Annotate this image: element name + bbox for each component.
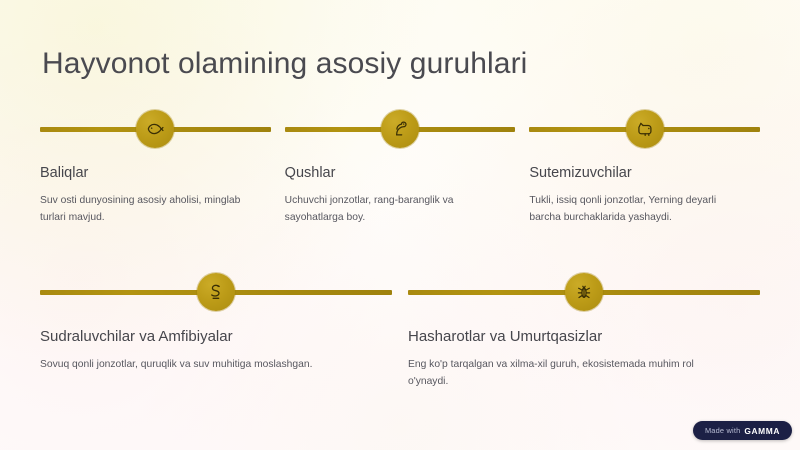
connector-bar-wrap — [40, 273, 392, 313]
badge-prefix-label: Made with — [705, 426, 740, 435]
card-description: Suv osti dunyosining asosiy aholisi, min… — [40, 193, 250, 227]
card-description: Eng ko'p tarqalgan va xilma-xil guruh, e… — [408, 357, 728, 391]
bird-icon — [381, 110, 419, 148]
card-description: Uchuvchi jonzotlar, rang-baranglik va sa… — [285, 193, 495, 227]
badge-brand-label: GAMMA — [744, 426, 780, 436]
card-title: Sudraluvchilar va Amfibiyalar — [40, 328, 392, 346]
card-title: Baliqlar — [40, 165, 271, 182]
made-with-gamma-badge[interactable]: Made with GAMMA — [693, 421, 792, 440]
page-title: Hayvonot olamining asosiy guruhlari — [42, 47, 527, 81]
connector-bar-wrap — [40, 110, 271, 150]
card-row-1: Baliqlar Suv osti dunyosining asosiy aho… — [40, 110, 760, 227]
card-hasharotlar-va-umurtqasizlar[interactable]: Hasharotlar va Umurtqasizlar Eng ko'p ta… — [408, 273, 760, 391]
card-title: Qushlar — [285, 165, 516, 182]
card-row-2: Sudraluvchilar va Amfibiyalar Sovuq qonl… — [40, 273, 760, 391]
card-title: Hasharotlar va Umurtqasizlar — [408, 328, 760, 346]
slide-canvas: Hayvonot olamining asosiy guruhlari Bali… — [0, 0, 800, 450]
card-title: Sutemizuvchilar — [529, 165, 760, 182]
insect-icon — [565, 273, 603, 311]
card-description: Sovuq qonli jonzotlar, quruqlik va suv m… — [40, 357, 360, 374]
connector-bar-wrap — [285, 110, 516, 150]
mammal-icon — [626, 110, 664, 148]
fish-icon — [136, 110, 174, 148]
card-sudraluvchilar-va-amfibiyalar[interactable]: Sudraluvchilar va Amfibiyalar Sovuq qonl… — [40, 273, 392, 391]
card-description: Tukli, issiq qonli jonzotlar, Yerning de… — [529, 193, 739, 227]
connector-bar-wrap — [408, 273, 760, 313]
card-baliqlar[interactable]: Baliqlar Suv osti dunyosining asosiy aho… — [40, 110, 271, 227]
card-qushlar[interactable]: Qushlar Uchuvchi jonzotlar, rang-barangl… — [285, 110, 516, 227]
snake-icon — [197, 273, 235, 311]
card-sutemizuvchilar[interactable]: Sutemizuvchilar Tukli, issiq qonli jonzo… — [529, 110, 760, 227]
connector-bar-wrap — [529, 110, 760, 150]
